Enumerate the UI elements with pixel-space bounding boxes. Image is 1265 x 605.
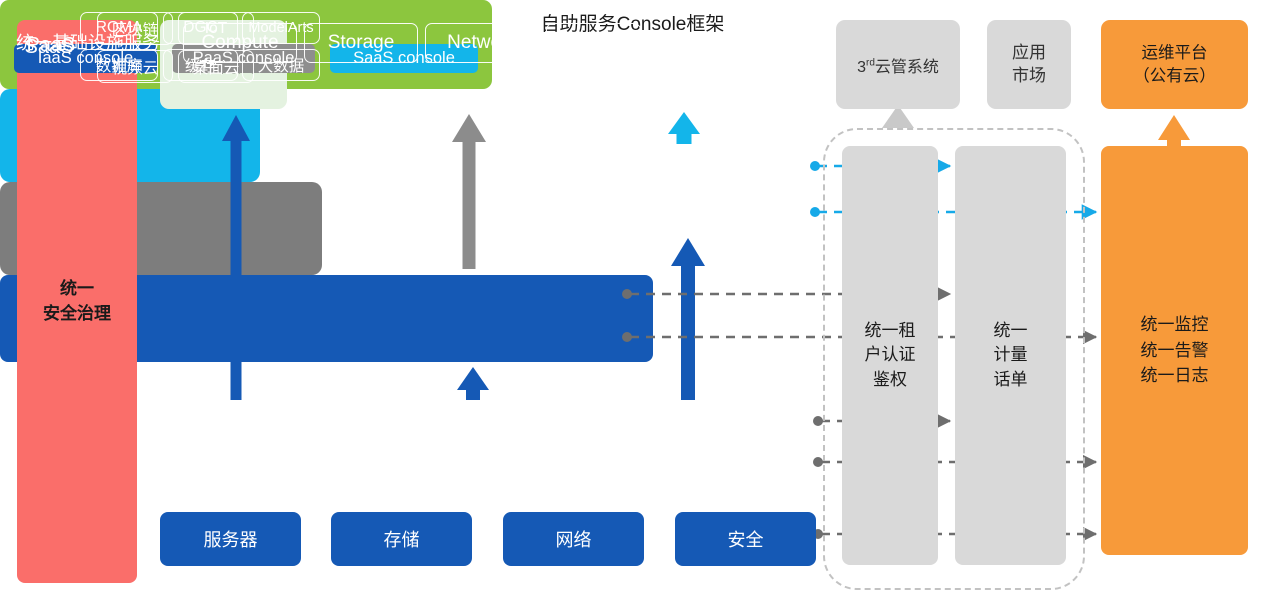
third-party-label: 云管系统 — [875, 59, 939, 76]
ops-top-line-1: 运维平台 — [1142, 44, 1208, 62]
third-party-sup: rd — [866, 57, 875, 68]
ops-top-line-2: （公有云） — [1133, 67, 1216, 85]
resource-box-security[interactable]: 安全 — [675, 512, 816, 566]
resource-box-storage[interactable]: 存储 — [331, 512, 472, 566]
ops-body-line-1: 统一监控 — [1141, 315, 1209, 334]
resource-box-server[interactable]: 服务器 — [160, 512, 301, 566]
auth-line-2: 户认证 — [865, 345, 916, 364]
third-party-prefix: 3 — [857, 59, 866, 76]
security-governance-panel[interactable]: 统一 安全治理 — [17, 20, 137, 583]
app-market-line-1: 应用 — [1012, 43, 1046, 62]
arrow-iaas-to-paas — [457, 367, 489, 400]
ops-body-line-3: 统一日志 — [1141, 366, 1209, 385]
security-line-1: 统一 — [60, 279, 94, 298]
ops-platform-header-box[interactable]: 运维平台 （公有云） — [1101, 20, 1248, 109]
iaas-item-network[interactable]: Network — [425, 23, 539, 63]
arrow-ops-body-to-top — [1158, 115, 1190, 146]
app-market-box[interactable]: 应用 市场 — [987, 20, 1071, 109]
arrow-iaas-to-saas — [671, 238, 705, 400]
iaas-item-storage[interactable]: Storage — [304, 23, 418, 63]
shared-service-metering[interactable]: 统一 计量 话单 — [955, 146, 1066, 565]
arrow-saas-to-console — [668, 112, 700, 144]
ops-body-line-2: 统一告警 — [1141, 341, 1209, 360]
shared-service-auth[interactable]: 统一租 户认证 鉴权 — [842, 146, 938, 565]
iaas-label: 统一基础设施服务 — [16, 29, 160, 55]
app-market-line-2: 市场 — [1012, 66, 1046, 85]
metering-line-1: 统一 — [994, 321, 1028, 340]
architecture-diagram: 统一租 户认证 鉴权 统一 计量 话单 统一 安全治理 API网关 自助服务Co… — [0, 0, 1265, 605]
metering-line-3: 话单 — [994, 370, 1028, 389]
auth-line-3: 鉴权 — [873, 370, 907, 389]
iaas-item-cce[interactable]: CCE — [546, 23, 641, 63]
auth-line-1: 统一租 — [865, 321, 916, 340]
third-party-cloud-mgmt-box[interactable]: 3rd云管系统 — [836, 20, 960, 109]
ops-platform-body-box[interactable]: 统一监控 统一告警 统一日志 — [1101, 146, 1248, 555]
arrow-paas-to-console — [452, 114, 486, 269]
resource-box-network[interactable]: 网络 — [503, 512, 644, 566]
metering-line-2: 计量 — [994, 345, 1028, 364]
security-line-2: 安全治理 — [43, 304, 111, 323]
iaas-item-compute[interactable]: Compute — [183, 23, 297, 63]
